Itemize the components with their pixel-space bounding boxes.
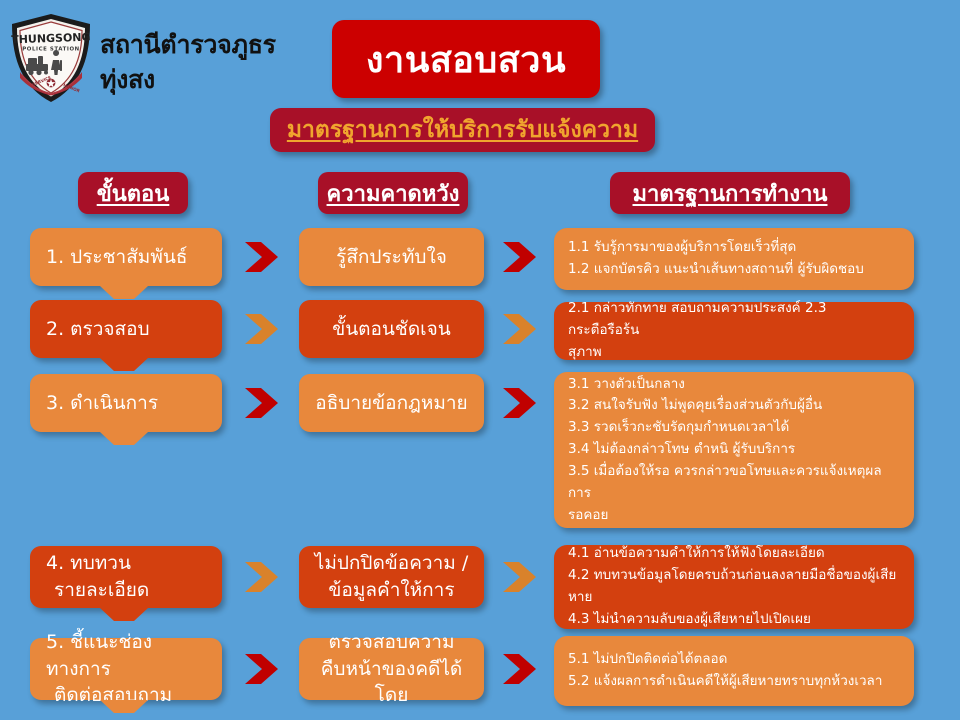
chevron-right-icon	[500, 240, 540, 274]
standard-line: 3.5 เมื่อต้องให้รอ ควรกล่าวขอโทษและควรแจ…	[568, 461, 900, 505]
step-label: 3. ดำเนินการ	[46, 390, 158, 417]
police-shield-badge-icon: THUNGSONG POLICE STATION SERVICE HONOR	[8, 12, 94, 104]
standards-box-1[interactable]: 1.1 รับรู้การมาของผู้บริการโดยเร็วที่สุด…	[554, 228, 914, 290]
chevron-right-icon	[500, 560, 540, 594]
expectation-label: รู้สึกประทับใจ	[336, 244, 447, 271]
step-box-tail	[100, 699, 148, 713]
page-subtitle: มาตรฐานการให้บริการรับแจ้งความ	[287, 112, 638, 148]
step-label: 5. ชี้แนะช่องทางการติดต่อสอบถาม	[46, 629, 206, 710]
standard-line: 3.4 ไม่ต้องกล่าวโทษ ตำหนิ ผู้รับบริการ	[568, 439, 900, 461]
step-box-4[interactable]: 4. ทบทวนรายละเอียด	[30, 546, 222, 608]
standard-line: 4.3 ไม่นำความลับของผู้เสียหายไปเปิดเผย	[568, 609, 900, 631]
station-name: สถานีตำรวจภูธรทุ่งสง	[100, 28, 315, 97]
expectation-box-3[interactable]: อธิบายข้อกฎหมาย	[299, 374, 484, 432]
standard-line: 5.2 แจ้งผลการดำเนินคดีให้ผู้เสียหายทราบท…	[568, 671, 900, 693]
expectation-box-4[interactable]: ไม่ปกปิดข้อความ /ข้อมูลคำให้การ	[299, 546, 484, 608]
step-label: 4. ทบทวนรายละเอียด	[46, 550, 149, 604]
standards-box-2[interactable]: 2.1 กล่าวทักทาย สอบถามความประสงค์ 2.3 กร…	[554, 302, 914, 360]
standard-line: 1.2 แจกบัตรคิว แนะนำเส้นทางสถานที่ ผู้รั…	[568, 259, 900, 281]
standard-line: สุภาพ	[568, 342, 900, 364]
chevron-right-icon	[242, 240, 282, 274]
step-box-tail	[100, 607, 148, 621]
page-title: งานสอบสวน	[366, 31, 566, 88]
column-header-steps: ขั้นตอน	[78, 172, 188, 214]
standard-line: 3.3 รวดเร็วกะชับรัดกุมกำหนดเวลาได้	[568, 417, 900, 439]
step-box-2[interactable]: 2. ตรวจสอบ	[30, 300, 222, 358]
expectation-box-1[interactable]: รู้สึกประทับใจ	[299, 228, 484, 286]
step-box-tail	[100, 357, 148, 371]
chevron-right-icon	[242, 652, 282, 686]
expectation-label: ขั้นตอนชัดเจน	[332, 316, 451, 343]
chevron-right-icon	[500, 386, 540, 420]
column-header-label: ขั้นตอน	[97, 176, 170, 211]
column-header-expectations: ความคาดหวัง	[318, 172, 468, 214]
step-box-tail	[100, 431, 148, 445]
header-bar: THUNGSONG POLICE STATION SERVICE HONOR ส…	[0, 0, 960, 165]
standard-line: 3.2 สนใจรับฟัง ไม่พูดคุยเรื่องส่วนตัวกับ…	[568, 395, 900, 417]
chevron-right-icon	[242, 386, 282, 420]
expectation-box-5[interactable]: ตรวจสอบความคืบหน้าของคดีได้โดย	[299, 638, 484, 700]
column-header-standards: มาตรฐานการทำงาน	[610, 172, 850, 214]
standard-line: 1.1 รับรู้การมาของผู้บริการโดยเร็วที่สุด	[568, 237, 900, 259]
expectation-label: อธิบายข้อกฎหมาย	[315, 390, 467, 417]
expectation-label: ไม่ปกปิดข้อความ /ข้อมูลคำให้การ	[315, 550, 468, 603]
chevron-right-icon	[242, 312, 282, 346]
standard-line: 5.1 ไม่ปกปิดติดต่อได้ตลอด	[568, 649, 900, 671]
standard-line: 2.1 กล่าวทักทาย สอบถามความประสงค์ 2.3 กร…	[568, 298, 900, 342]
step-label: 1. ประชาสัมพันธ์	[46, 244, 187, 271]
expectation-label: ตรวจสอบความคืบหน้าของคดีได้โดย	[309, 629, 474, 709]
svg-text:POLICE STATION: POLICE STATION	[22, 47, 80, 53]
svg-text:THUNGSONG: THUNGSONG	[11, 31, 91, 47]
column-header-label: ความคาดหวัง	[327, 176, 460, 211]
column-header-label: มาตรฐานการทำงาน	[633, 176, 828, 211]
chevron-right-icon	[242, 560, 282, 594]
standards-box-3[interactable]: 3.1 วางตัวเป็นกลาง3.2 สนใจรับฟัง ไม่พูดค…	[554, 372, 914, 528]
step-box-1[interactable]: 1. ประชาสัมพันธ์	[30, 228, 222, 286]
step-label: 2. ตรวจสอบ	[46, 316, 150, 343]
subtitle-box: มาตรฐานการให้บริการรับแจ้งความ	[270, 108, 655, 152]
standard-line: 4.2 ทบทวนข้อมูลโดยครบถ้วนก่อนลงลายมือชื่…	[568, 565, 900, 609]
step-box-tail	[100, 285, 148, 299]
expectation-box-2[interactable]: ขั้นตอนชัดเจน	[299, 300, 484, 358]
standards-box-5[interactable]: 5.1 ไม่ปกปิดติดต่อได้ตลอด5.2 แจ้งผลการดำ…	[554, 636, 914, 706]
main-title-box: งานสอบสวน	[332, 20, 600, 98]
step-box-3[interactable]: 3. ดำเนินการ	[30, 374, 222, 432]
chevron-right-icon	[500, 312, 540, 346]
standard-line: รอคอย	[568, 505, 900, 527]
step-box-5[interactable]: 5. ชี้แนะช่องทางการติดต่อสอบถาม	[30, 638, 222, 700]
chevron-right-icon	[500, 652, 540, 686]
standard-line: 4.1 อ่านข้อความคำให้การให้ฟังโดยละเอียด	[568, 543, 900, 565]
standard-line: 3.1 วางตัวเป็นกลาง	[568, 374, 900, 396]
standards-box-4[interactable]: 4.1 อ่านข้อความคำให้การให้ฟังโดยละเอียด4…	[554, 545, 914, 629]
